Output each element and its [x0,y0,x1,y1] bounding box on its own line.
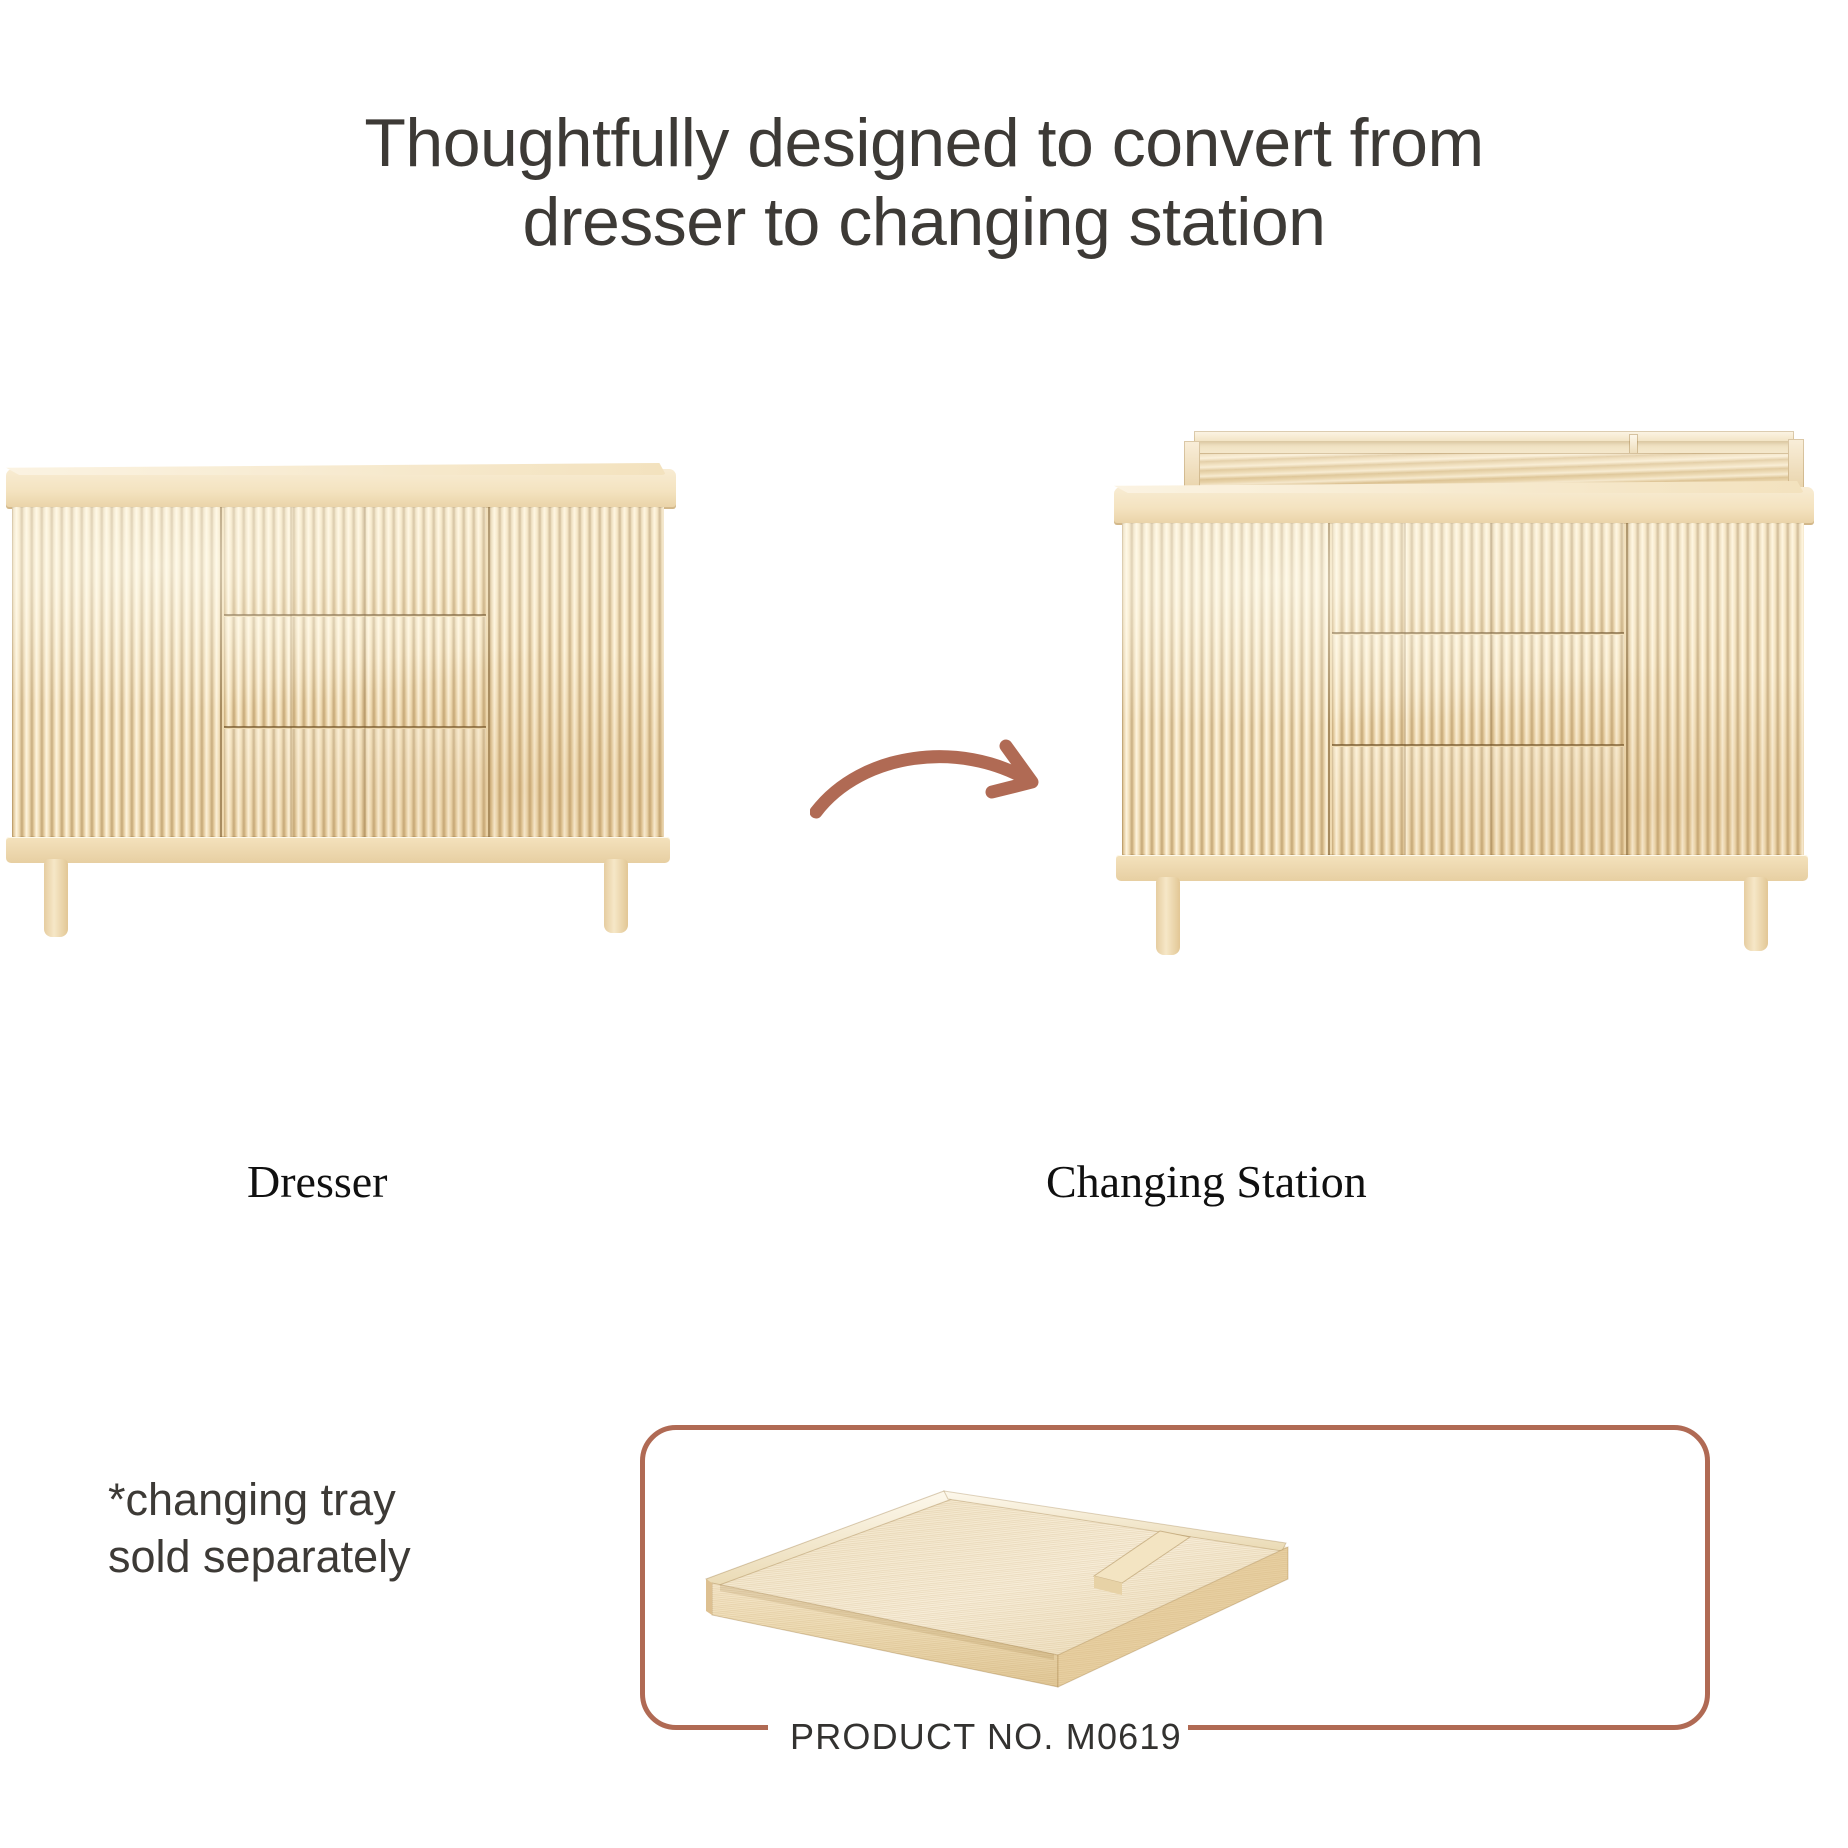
dresser-leg-right [604,859,628,933]
dresser-drawer-3 [224,729,486,837]
station-left-door-edge [1328,523,1330,855]
dresser-left-door-edge [220,507,222,837]
footnote-changing-tray: *changing tray sold separately [108,1472,411,1585]
dresser-drawer-1 [224,507,486,615]
station-drawer-1 [1332,523,1624,633]
dresser-drawer-split-b [364,507,366,837]
infographic-canvas: Thoughtfully designed to convert from dr… [0,0,1848,1848]
station-drawer-2 [1332,635,1624,745]
dresser-cabinet-body [12,507,664,837]
station-right-door-edge [1626,523,1628,855]
dresser-top-surface [6,469,676,509]
tray-left-end [1184,441,1200,493]
dresser-drawer-seam-2 [224,726,486,728]
dresser-top-bevel [6,463,666,475]
page-title: Thoughtfully designed to convert from dr… [0,104,1848,262]
station-leg-left [1156,877,1180,955]
station-left-door [1122,523,1328,855]
dresser-base-rail [6,837,670,863]
station-drawer-3 [1332,747,1624,855]
caption-dresser: Dresser [247,1155,388,1208]
station-drawer-split-a [1404,523,1406,855]
headline-line-1: Thoughtfully designed to convert from [120,104,1728,183]
caption-changing-station: Changing Station [1046,1155,1367,1208]
dresser-right-door-edge [488,507,490,837]
dresser-drawer-seam-1 [224,614,486,616]
dresser-left-door [12,507,220,837]
station-base-rail [1116,855,1808,881]
dresser-leg-left [44,859,68,937]
changing-tray-product-photo [690,1455,1290,1695]
footnote-line-1: *changing tray [108,1472,411,1529]
station-cabinet-body [1122,523,1804,855]
footnote-line-2: sold separately [108,1529,411,1586]
station-drawer-seam-1 [1332,632,1624,634]
station-leg-right [1744,877,1768,951]
tray-left-endcap [706,1579,712,1615]
station-drawer-seam-2 [1332,744,1624,746]
dresser-right-door [490,507,664,837]
convert-arrow-svg [810,728,1060,848]
convert-arrow [810,728,1060,848]
headline-line-2: dresser to changing station [120,183,1728,262]
station-right-door [1628,523,1804,855]
product-image-changing-station [1108,425,1848,975]
changing-tray-svg [690,1455,1290,1695]
dresser-drawer-split-a [290,507,292,837]
dresser-drawer-2 [224,617,486,727]
station-drawer-split-b [1490,523,1492,855]
product-number-label: PRODUCT NO. M0619 [790,1716,1182,1758]
product-image-dresser [0,455,690,975]
